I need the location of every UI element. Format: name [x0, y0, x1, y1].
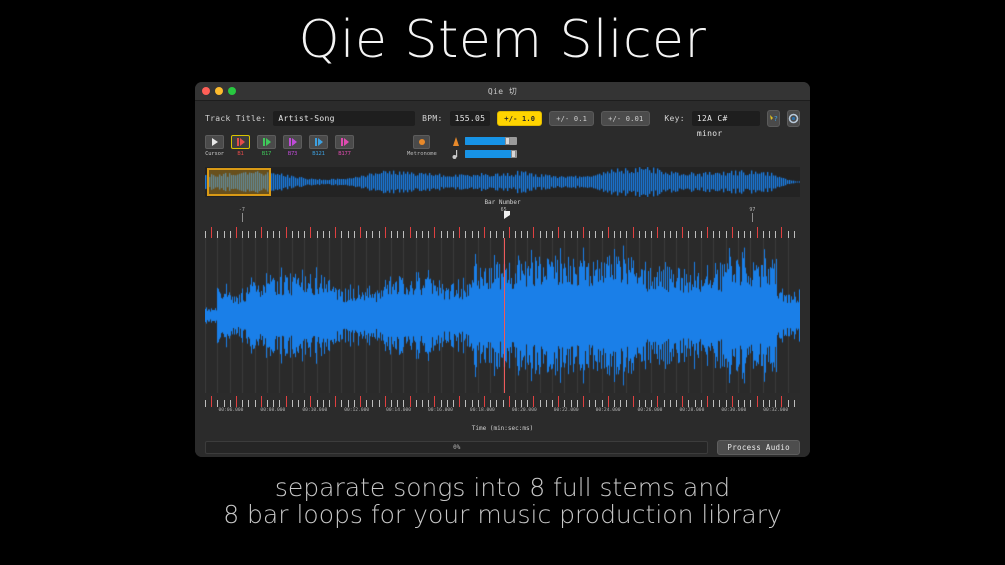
- ruler-tick-minor: [670, 400, 671, 407]
- ruler-tick-minor: [645, 231, 646, 238]
- ruler-tick-minor: [503, 400, 504, 407]
- ruler-tick-minor: [379, 231, 380, 238]
- transport-button-b121[interactable]: B121: [309, 135, 328, 157]
- ruler-tick-minor: [428, 231, 429, 238]
- ruler-tick-minor: [503, 231, 504, 238]
- ruler-tick-minor: [744, 231, 745, 238]
- ruler-tick-major: [484, 396, 485, 407]
- ruler-tick-minor: [639, 400, 640, 407]
- volume-sliders: [452, 136, 517, 159]
- ruler-tick-minor: [540, 231, 541, 238]
- time-tick-label: 00:08.000: [260, 408, 285, 413]
- transport-button-cursor[interactable]: Cursor: [205, 135, 224, 157]
- footer-row: 0% Process Audio: [195, 432, 810, 455]
- ruler-tick-minor: [639, 231, 640, 238]
- ruler-tick-minor: [279, 231, 280, 238]
- ruler-tick-minor: [595, 231, 596, 238]
- ruler-tick-minor: [664, 231, 665, 238]
- ruler-tick-minor: [564, 231, 565, 238]
- metronome-label: Metronome: [407, 151, 437, 157]
- music-note-icon: [452, 149, 461, 159]
- ruler-tick-minor: [515, 231, 516, 238]
- bar-marker-stem: [752, 213, 753, 222]
- time-tick-label: 00:20.000: [512, 408, 537, 413]
- key-input[interactable]: 12A C# minor: [692, 111, 760, 126]
- ruler-tick-minor: [676, 400, 677, 407]
- ruler-tick-minor: [279, 400, 280, 407]
- ruler-tick-major: [434, 227, 435, 238]
- app-window: Qie 切 Track Title: Artist-Song BPM: 155.…: [195, 82, 810, 457]
- ruler-tick-major: [310, 396, 311, 407]
- gear-icon[interactable]: [787, 110, 800, 127]
- ruler-tick-minor: [552, 400, 553, 407]
- ruler-tick-minor: [422, 231, 423, 238]
- ruler-tick-major: [757, 227, 758, 238]
- ruler-tick-minor: [490, 231, 491, 238]
- ruler-tick-minor: [719, 400, 720, 407]
- page-caption: separate songs into 8 full stems and 8 b…: [0, 474, 1005, 528]
- time-tick-label: 00:30.000: [721, 408, 746, 413]
- ruler-tick-minor: [602, 231, 603, 238]
- ruler-tick-minor: [620, 400, 621, 407]
- ruler-tick-major: [781, 396, 782, 407]
- ruler-tick-minor: [788, 400, 789, 407]
- ruler-tick-minor: [564, 400, 565, 407]
- ruler-tick-minor: [626, 231, 627, 238]
- ruler-tick-major: [360, 227, 361, 238]
- bpm-nudge-1[interactable]: +/- 1.0: [497, 111, 542, 126]
- ruler-tick-major: [286, 227, 287, 238]
- ruler-tick-minor: [571, 231, 572, 238]
- ruler-tick-major: [335, 396, 336, 407]
- ruler-tick-minor: [447, 400, 448, 407]
- svg-text:?: ?: [774, 115, 778, 123]
- ruler-tick-minor: [688, 400, 689, 407]
- ruler-tick-minor: [304, 231, 305, 238]
- ruler-tick-major: [583, 396, 584, 407]
- ruler-tick-major: [732, 396, 733, 407]
- ruler-tick-minor: [595, 400, 596, 407]
- ruler-tick-minor: [719, 231, 720, 238]
- ruler-tick-major: [707, 396, 708, 407]
- ruler-tick-minor: [403, 400, 404, 407]
- ruler-tick-minor: [527, 400, 528, 407]
- time-tick-label: 00:10.000: [302, 408, 327, 413]
- time-tick-label: 00:26.000: [638, 408, 663, 413]
- time-tick-label: 00:12.000: [344, 408, 369, 413]
- time-tick-label: 00:16.000: [428, 408, 453, 413]
- ruler-tick-minor: [670, 231, 671, 238]
- overview-canvas[interactable]: [205, 167, 800, 197]
- ruler-tick-minor: [255, 400, 256, 407]
- key-label: Key:: [664, 114, 684, 123]
- ruler-tick-minor: [323, 231, 324, 238]
- ruler-tick-minor: [521, 231, 522, 238]
- bpm-input[interactable]: 155.05: [450, 111, 491, 126]
- ruler-tick-major: [261, 227, 262, 238]
- track-volume-row: [452, 149, 517, 159]
- ruler-tick-minor: [205, 400, 206, 407]
- ruler-tick-major: [608, 396, 609, 407]
- ruler-tick-minor: [453, 400, 454, 407]
- progress-bar: 0%: [205, 441, 708, 454]
- time-tick-label: 00:06.000: [219, 408, 244, 413]
- ruler-tick-minor: [348, 231, 349, 238]
- ruler-tick-major: [459, 227, 460, 238]
- ruler-tick-major: [558, 227, 559, 238]
- ruler-tick-minor: [651, 400, 652, 407]
- ruler-tick-minor: [403, 231, 404, 238]
- caption-line-2: 8 bar loops for your music production li…: [0, 501, 1005, 528]
- ruler-tick-minor: [348, 400, 349, 407]
- metronome-volume-row: [452, 136, 517, 146]
- ruler-tick-minor: [354, 400, 355, 407]
- ruler-tick-major: [533, 396, 534, 407]
- time-tick-ruler[interactable]: [205, 393, 800, 407]
- window-body: Track Title: Artist-Song BPM: 155.05 +/-…: [195, 101, 810, 457]
- ruler-tick-minor: [267, 231, 268, 238]
- ruler-tick-major: [633, 227, 634, 238]
- ruler-tick-minor: [397, 231, 398, 238]
- ruler-tick-minor: [695, 400, 696, 407]
- ruler-tick-major: [385, 227, 386, 238]
- transport-label-b17: B17: [262, 151, 271, 157]
- ruler-tick-minor: [441, 231, 442, 238]
- ruler-tick-minor: [366, 231, 367, 238]
- help-question-icon[interactable]: ?: [767, 110, 780, 127]
- ruler-tick-minor: [329, 400, 330, 407]
- ruler-tick-major: [583, 227, 584, 238]
- ruler-tick-major: [360, 396, 361, 407]
- ruler-tick-minor: [416, 400, 417, 407]
- ruler-tick-minor: [292, 231, 293, 238]
- page-title: Qie Stem Slicer: [0, 8, 1005, 72]
- ruler-tick-minor: [490, 400, 491, 407]
- ruler-tick-major: [434, 396, 435, 407]
- transport-label-b121: B121: [312, 151, 324, 157]
- ruler-tick-minor: [341, 231, 342, 238]
- ruler-tick-minor: [515, 400, 516, 407]
- ruler-tick-minor: [614, 231, 615, 238]
- ruler-tick-minor: [298, 231, 299, 238]
- ruler-tick-minor: [242, 231, 243, 238]
- ruler-tick-minor: [577, 231, 578, 238]
- ruler-tick-minor: [676, 231, 677, 238]
- ruler-tick-minor: [775, 400, 776, 407]
- ruler-tick-major: [310, 227, 311, 238]
- ruler-tick-minor: [713, 231, 714, 238]
- ruler-tick-minor: [329, 231, 330, 238]
- metronome-small-icon: [452, 136, 461, 146]
- time-axis-title: Time (min:sec:ms): [195, 425, 810, 432]
- transport-button-b73[interactable]: B73: [283, 135, 302, 157]
- transport-button-b17[interactable]: B17: [257, 135, 276, 157]
- ruler-tick-minor: [769, 231, 770, 238]
- ruler-tick-minor: [267, 400, 268, 407]
- ruler-tick-minor: [341, 400, 342, 407]
- caption-line-1: separate songs into 8 full stems and: [0, 474, 1005, 501]
- ruler-tick-minor: [224, 231, 225, 238]
- toolbar-row: Track Title: Artist-Song BPM: 155.05 +/-…: [195, 101, 810, 131]
- ruler-tick-minor: [366, 400, 367, 407]
- ruler-tick-major: [682, 396, 683, 407]
- transport-label-b177: B177: [338, 151, 350, 157]
- ruler-tick-minor: [242, 400, 243, 407]
- playhead[interactable]: [504, 238, 505, 393]
- ruler-tick-minor: [416, 231, 417, 238]
- ruler-tick-major: [509, 227, 510, 238]
- ruler-tick-minor: [552, 231, 553, 238]
- play-icon[interactable]: [257, 135, 276, 149]
- loop-selection-region[interactable]: [207, 168, 271, 196]
- ruler-tick-major: [385, 396, 386, 407]
- ruler-tick-major: [335, 227, 336, 238]
- play-icon[interactable]: [231, 135, 250, 149]
- ruler-tick-minor: [775, 231, 776, 238]
- ruler-tick-minor: [602, 400, 603, 407]
- ruler-tick-minor: [744, 400, 745, 407]
- ruler-tick-major: [608, 227, 609, 238]
- ruler-tick-minor: [577, 400, 578, 407]
- ruler-tick-major: [533, 227, 534, 238]
- ruler-tick-minor: [255, 231, 256, 238]
- ruler-tick-major: [459, 396, 460, 407]
- window-titlebar: Qie 切: [195, 82, 810, 101]
- ruler-tick-minor: [391, 400, 392, 407]
- ruler-tick-minor: [472, 400, 473, 407]
- time-tick-label: 00:22.000: [554, 408, 579, 413]
- play-icon[interactable]: [335, 135, 354, 149]
- ruler-tick-major: [682, 227, 683, 238]
- ruler-tick-minor: [695, 231, 696, 238]
- transport-label-b73: B73: [288, 151, 297, 157]
- ruler-tick-minor: [794, 231, 795, 238]
- ruler-tick-major: [657, 396, 658, 407]
- ruler-tick-minor: [298, 400, 299, 407]
- waveform-overview[interactable]: [205, 167, 800, 197]
- ruler-tick-minor: [713, 400, 714, 407]
- ruler-tick-major: [757, 396, 758, 407]
- ruler-tick-major: [211, 396, 212, 407]
- ruler-tick-major: [707, 227, 708, 238]
- ruler-tick-major: [657, 227, 658, 238]
- ruler-tick-minor: [571, 400, 572, 407]
- ruler-tick-minor: [664, 400, 665, 407]
- play-icon[interactable]: [309, 135, 328, 149]
- play-icon[interactable]: [283, 135, 302, 149]
- ruler-tick-minor: [441, 400, 442, 407]
- ruler-tick-minor: [546, 231, 547, 238]
- ruler-tick-minor: [372, 231, 373, 238]
- ruler-tick-minor: [217, 231, 218, 238]
- ruler-tick-minor: [447, 231, 448, 238]
- track-title-label: Track Title:: [205, 114, 266, 123]
- ruler-tick-minor: [527, 231, 528, 238]
- ruler-tick-minor: [465, 231, 466, 238]
- ruler-tick-major: [286, 396, 287, 407]
- ruler-tick-minor: [589, 231, 590, 238]
- ruler-tick-minor: [465, 400, 466, 407]
- ruler-tick-minor: [738, 231, 739, 238]
- ruler-tick-minor: [397, 400, 398, 407]
- metronome-volume-slider[interactable]: [465, 137, 517, 145]
- ruler-tick-minor: [248, 400, 249, 407]
- ruler-tick-minor: [738, 400, 739, 407]
- progress-text: 0%: [453, 444, 460, 451]
- ruler-tick-minor: [323, 400, 324, 407]
- ruler-tick-minor: [273, 231, 274, 238]
- ruler-tick-minor: [472, 231, 473, 238]
- ruler-tick-major: [732, 227, 733, 238]
- ruler-tick-minor: [496, 400, 497, 407]
- ruler-tick-major: [633, 396, 634, 407]
- time-tick-label: 00:32.000: [763, 408, 788, 413]
- ruler-tick-minor: [794, 400, 795, 407]
- transport-label-b1: B1: [237, 151, 243, 157]
- ruler-tick-major: [261, 396, 262, 407]
- track-volume-slider[interactable]: [465, 150, 517, 158]
- ruler-tick-minor: [688, 231, 689, 238]
- ruler-tick-minor: [354, 231, 355, 238]
- bpm-label: BPM:: [422, 114, 442, 123]
- bpm-nudge-001[interactable]: +/- 0.01: [601, 111, 650, 126]
- ruler-tick-minor: [230, 400, 231, 407]
- bar-number-header: Bar Number -7 65 97: [205, 198, 800, 224]
- bpm-nudge-01[interactable]: +/- 0.1: [549, 111, 594, 126]
- time-tick-label: 00:18.000: [470, 408, 495, 413]
- time-tick-label: 00:24.000: [596, 408, 621, 413]
- ruler-tick-major: [781, 227, 782, 238]
- ruler-tick-major: [211, 227, 212, 238]
- ruler-tick-minor: [379, 400, 380, 407]
- ruler-tick-minor: [788, 231, 789, 238]
- time-ruler-labels: 00:06.00000:08.00000:10.00000:12.00000:1…: [205, 407, 800, 418]
- ruler-tick-minor: [478, 400, 479, 407]
- ruler-tick-minor: [478, 231, 479, 238]
- ruler-tick-major: [236, 227, 237, 238]
- ruler-tick-minor: [651, 231, 652, 238]
- playhead-flag-icon[interactable]: [504, 211, 510, 219]
- ruler-tick-major: [558, 396, 559, 407]
- ruler-tick-minor: [701, 231, 702, 238]
- ruler-tick-minor: [521, 400, 522, 407]
- ruler-tick-minor: [217, 400, 218, 407]
- ruler-tick-minor: [205, 231, 206, 238]
- ruler-tick-minor: [763, 400, 764, 407]
- ruler-tick-major: [509, 396, 510, 407]
- ruler-tick-minor: [496, 231, 497, 238]
- ruler-tick-minor: [273, 400, 274, 407]
- ruler-tick-minor: [304, 400, 305, 407]
- ruler-tick-minor: [422, 400, 423, 407]
- ruler-tick-minor: [769, 400, 770, 407]
- bar-axis-title: Bar Number: [205, 199, 800, 206]
- ruler-tick-minor: [453, 231, 454, 238]
- ruler-tick-minor: [248, 231, 249, 238]
- ruler-tick-minor: [701, 400, 702, 407]
- ruler-tick-minor: [614, 400, 615, 407]
- ruler-tick-minor: [317, 231, 318, 238]
- transport-label-cursor: Cursor: [205, 151, 224, 157]
- ruler-tick-minor: [230, 231, 231, 238]
- track-title-input[interactable]: Artist-Song: [273, 111, 415, 126]
- metronome-icon[interactable]: [413, 135, 430, 149]
- ruler-tick-minor: [626, 400, 627, 407]
- bar-marker-stem: [242, 213, 243, 222]
- ruler-tick-minor: [763, 231, 764, 238]
- ruler-tick-major: [410, 396, 411, 407]
- ruler-tick-minor: [726, 231, 727, 238]
- waveform-main[interactable]: [205, 238, 800, 393]
- transport-button-b1[interactable]: B1: [231, 135, 250, 157]
- bar-tick-ruler[interactable]: [205, 224, 800, 238]
- ruler-tick-minor: [645, 400, 646, 407]
- ruler-tick-minor: [589, 400, 590, 407]
- ruler-tick-minor: [428, 400, 429, 407]
- page-root: Qie Stem Slicer Qie 切 Track Title: Artis…: [0, 0, 1005, 565]
- time-tick-label: 00:28.000: [679, 408, 704, 413]
- time-tick-label: 00:14.000: [386, 408, 411, 413]
- waveform-canvas[interactable]: [205, 238, 800, 393]
- ruler-tick-major: [484, 227, 485, 238]
- process-audio-button[interactable]: Process Audio: [717, 440, 800, 455]
- ruler-tick-minor: [372, 400, 373, 407]
- ruler-tick-minor: [540, 400, 541, 407]
- ruler-tick-minor: [391, 231, 392, 238]
- ruler-tick-major: [410, 227, 411, 238]
- ruler-tick-major: [236, 396, 237, 407]
- ruler-tick-minor: [750, 231, 751, 238]
- ruler-tick-minor: [317, 400, 318, 407]
- ruler-tick-minor: [750, 400, 751, 407]
- ruler-tick-minor: [292, 400, 293, 407]
- ruler-tick-minor: [620, 231, 621, 238]
- ruler-tick-minor: [224, 400, 225, 407]
- window-title: Qie 切: [195, 86, 810, 97]
- ruler-tick-minor: [546, 400, 547, 407]
- transport-button-b177[interactable]: B177: [335, 135, 354, 157]
- play-icon[interactable]: [205, 135, 224, 149]
- ruler-tick-minor: [726, 400, 727, 407]
- metronome-toggle[interactable]: Metronome: [407, 135, 437, 157]
